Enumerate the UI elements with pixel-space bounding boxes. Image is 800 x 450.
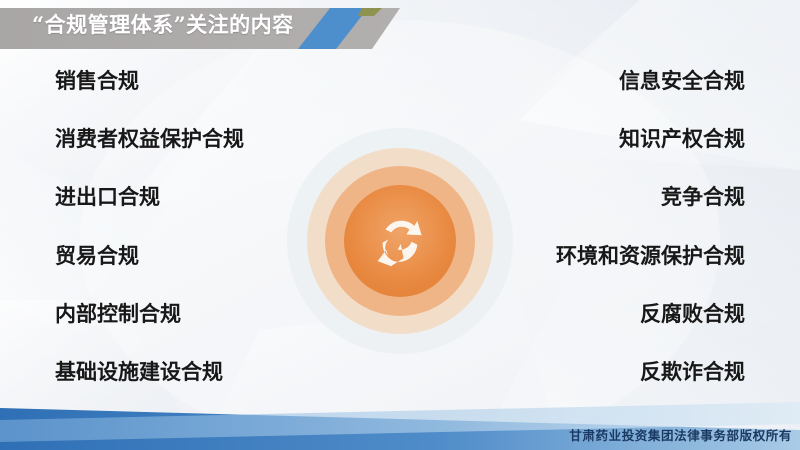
- list-item[interactable]: 环境和资源保护合规: [556, 245, 745, 268]
- list-item[interactable]: 进出口合规: [55, 186, 160, 209]
- list-item[interactable]: 贸易合规: [55, 245, 139, 268]
- list-item[interactable]: 反腐败合规: [640, 303, 745, 326]
- list-item[interactable]: 消费者权益保护合规: [55, 128, 244, 151]
- right-column-list: 信息安全合规 知识产权合规 竞争合规 环境和资源保护合规 反腐败合规 反欺诈合规: [415, 60, 745, 400]
- list-item[interactable]: 竞争合规: [661, 186, 745, 209]
- list-item[interactable]: 基础设施建设合规: [55, 361, 223, 384]
- footer-copyright: 甘肃药业投资集团法律事务部版权所有: [569, 425, 792, 444]
- left-column-list: 销售合规 消费者权益保护合规 进出口合规 贸易合规 内部控制合规 基础设施建设合…: [55, 60, 385, 400]
- page-title: “合规管理体系”关注的内容: [32, 9, 294, 39]
- list-item[interactable]: 反欺诈合规: [640, 361, 745, 384]
- list-item[interactable]: 销售合规: [55, 70, 139, 93]
- list-item[interactable]: 知识产权合规: [619, 128, 745, 151]
- list-item[interactable]: 内部控制合规: [55, 303, 181, 326]
- slide-canvas: “合规管理体系”关注的内容 销售合规 消费者权益保护合规 进出口合规 贸易合规 …: [0, 0, 800, 450]
- list-item[interactable]: 信息安全合规: [619, 70, 745, 93]
